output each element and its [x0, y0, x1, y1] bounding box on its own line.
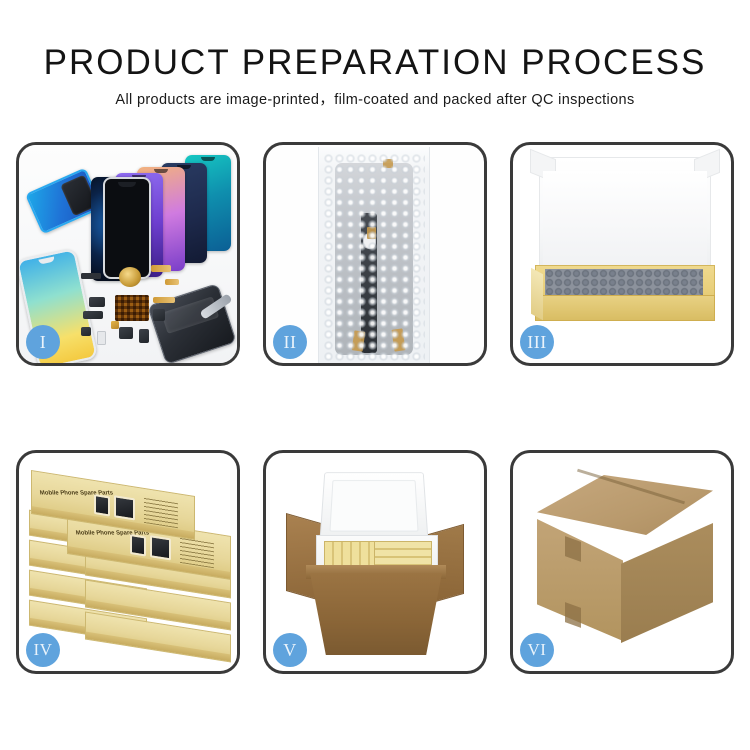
foam-pellets-image [545, 269, 703, 297]
spare-part [119, 327, 133, 339]
spare-part [111, 321, 119, 329]
carton-body-image [310, 573, 442, 655]
step-badge-5: V [273, 633, 307, 667]
page-subtitle: All products are image-printed，film-coat… [0, 90, 750, 110]
process-step-1[interactable]: I [16, 142, 240, 366]
box-window [94, 494, 110, 517]
header: PRODUCT PREPARATION PROCESS All products… [0, 0, 750, 110]
spare-part [165, 279, 179, 285]
process-step-5[interactable]: V [263, 450, 487, 674]
box-window [150, 535, 171, 560]
bubble-texture [323, 153, 425, 363]
process-step-3[interactable]: III [510, 142, 734, 366]
process-step-grid: I II [16, 142, 734, 674]
box-side-panel-image [531, 268, 543, 320]
spare-part [81, 327, 91, 336]
spare-part [153, 297, 175, 303]
step-badge-6: VI [520, 633, 554, 667]
spare-part [81, 273, 101, 279]
process-step-2[interactable]: II [263, 142, 487, 366]
foam-sheet-image [543, 171, 707, 267]
process-step-4[interactable]: Mobile Phone Spare Parts Mobile Phone Sp… [16, 450, 240, 674]
box-window [130, 534, 146, 557]
box-front-panel-image [535, 295, 715, 321]
logic-board-part [115, 295, 149, 321]
bubble-wrap-bag-image [318, 147, 430, 363]
carton-side-face-image [621, 523, 713, 643]
step-badge-3: III [520, 325, 554, 359]
spare-part [153, 309, 165, 321]
product-preparation-infographic: PRODUCT PREPARATION PROCESS All products… [0, 0, 750, 750]
step-badge-1: I [26, 325, 60, 359]
foam-lid-image [319, 472, 428, 541]
process-step-6[interactable]: VI [510, 450, 734, 674]
speaker-module-part [119, 267, 141, 287]
spare-part [151, 265, 171, 272]
spare-part [83, 311, 103, 319]
box-spec-lines [144, 497, 178, 528]
spare-part [139, 329, 149, 343]
box-spec-lines [180, 537, 214, 568]
spare-part [97, 331, 106, 345]
spare-part [89, 297, 105, 307]
box-window [114, 495, 135, 520]
step-badge-4: IV [26, 633, 60, 667]
page-title: PRODUCT PREPARATION PROCESS [0, 42, 750, 84]
step-badge-2: II [273, 325, 307, 359]
screen-protector-image [103, 177, 151, 279]
